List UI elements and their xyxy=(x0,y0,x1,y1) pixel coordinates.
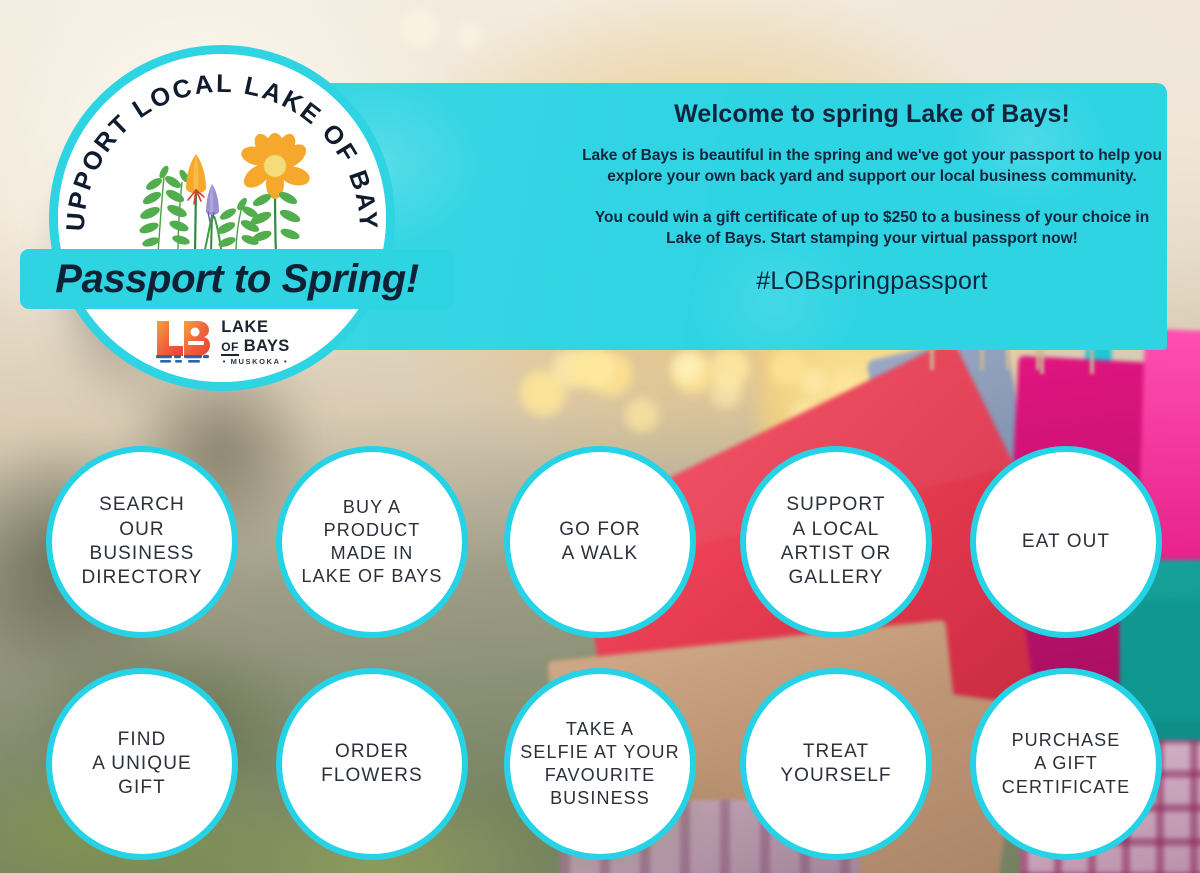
activity-label: SEARCH OUR BUSINESS DIRECTORY xyxy=(73,493,210,590)
activity-circle-order-flowers[interactable]: ORDER FLOWERS xyxy=(276,668,468,860)
activity-circle-find-a-unique-gift[interactable]: FIND A UNIQUE GIFT xyxy=(46,668,238,860)
activity-circle-treat-yourself[interactable]: TREAT YOURSELF xyxy=(740,668,932,860)
activity-label: TREAT YOURSELF xyxy=(772,740,899,789)
activity-circle-go-for-a-walk[interactable]: GO FOR A WALK xyxy=(504,446,696,638)
activity-circle-support-a-local-artist-or-gallery[interactable]: SUPPORT A LOCAL ARTIST OR GALLERY xyxy=(740,446,932,638)
passport-to-spring-poster: Welcome to spring Lake of Bays! Lake of … xyxy=(0,0,1200,873)
activity-circle-buy-a-product-made-in-lake-of-bays[interactable]: BUY A PRODUCT MADE IN LAKE OF BAYS xyxy=(276,446,468,638)
activity-circle-eat-out[interactable]: EAT OUT xyxy=(970,446,1162,638)
activity-circle-search-our-business-directory[interactable]: SEARCH OUR BUSINESS DIRECTORY xyxy=(46,446,238,638)
activity-label: SUPPORT A LOCAL ARTIST OR GALLERY xyxy=(773,493,900,590)
activity-label: EAT OUT xyxy=(1014,530,1118,554)
ribbon-label: Passport to Spring! xyxy=(55,257,419,302)
activity-label: PURCHASE A GIFT CERTIFICATE xyxy=(994,729,1138,798)
activity-label: BUY A PRODUCT MADE IN LAKE OF BAYS xyxy=(294,496,451,588)
activity-circle-take-a-selfie-at-your-favourite-business[interactable]: TAKE A SELFIE AT YOUR FAVOURITE BUSINESS xyxy=(504,668,696,860)
activity-label: TAKE A SELFIE AT YOUR FAVOURITE BUSINESS xyxy=(512,718,687,810)
activity-circle-grid: SEARCH OUR BUSINESS DIRECTORY BUY A PROD… xyxy=(0,0,1200,873)
activity-label: FIND A UNIQUE GIFT xyxy=(84,728,200,801)
activity-label: ORDER FLOWERS xyxy=(313,740,431,789)
activity-circle-purchase-a-gift-certificate[interactable]: PURCHASE A GIFT CERTIFICATE xyxy=(970,668,1162,860)
activity-label: GO FOR A WALK xyxy=(551,518,649,567)
passport-ribbon: Passport to Spring! xyxy=(20,249,454,309)
